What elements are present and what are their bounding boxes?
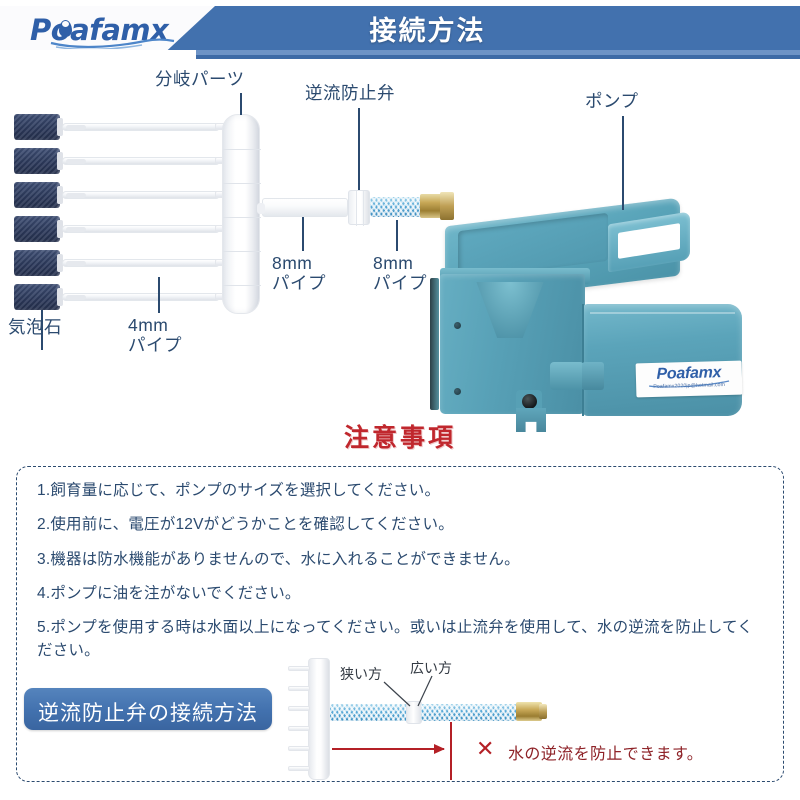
blue-braided-hose [370, 197, 422, 217]
air-stone [14, 114, 60, 140]
pipe-ferrule [66, 227, 86, 232]
splitter-manifold [222, 114, 260, 314]
pipe-4mm [62, 157, 220, 165]
air-stone [14, 182, 60, 208]
notice-item: 2.使用前に、電圧が12Vがどうかことを確認してください。 [37, 513, 763, 536]
pipe-ferrule [66, 125, 86, 130]
valve-connection-badge: 逆流防止弁の接続方法 [24, 688, 272, 730]
leader-pipe-4mm [158, 277, 160, 313]
air-stone [14, 216, 60, 242]
pipe-4mm [62, 225, 220, 233]
leader-pipe-8mm-b [396, 220, 398, 251]
pipe-ferrule [66, 261, 86, 266]
pump-side-plate [430, 278, 439, 410]
label-air-stone: 気泡石 [8, 318, 62, 338]
notice-title: 注意事項 [0, 418, 800, 454]
pump-screw [454, 322, 461, 329]
leader-pump [622, 116, 624, 210]
pump-outlet-hole [522, 394, 537, 409]
leader-splitter [240, 93, 242, 115]
flow-direction-arrow [332, 748, 444, 750]
pipe-4mm [62, 293, 220, 301]
label-pipe-8mm-b-line2: パイプ [373, 274, 427, 294]
pipe-4mm [62, 123, 220, 131]
notice-item: 4.ポンプに油を注がないでください。 [37, 582, 763, 605]
label-splitter: 分岐パーツ [155, 70, 245, 90]
leader-pipe-8mm-a [302, 217, 304, 251]
pipe-ferrule [66, 159, 86, 164]
header-underline-dark [196, 55, 800, 59]
blocked-flow-line [450, 722, 452, 780]
pump-brand-label: Poafamx Poafamx2020jp@hotmail.com [636, 361, 743, 398]
notice-list: 1.飼育量に応じて、ポンプのサイズを選択してください。 2.使用前に、電圧が12… [37, 479, 763, 674]
pump-motor-highlight [590, 312, 735, 314]
notice-item: 1.飼育量に応じて、ポンプのサイズを選択してください。 [37, 479, 763, 502]
x-mark-icon: ✕ [476, 736, 494, 762]
notice-item: 3.機器は防水機能がありませんので、水に入れることができません。 [37, 548, 763, 571]
pipe-4mm [62, 259, 220, 267]
pump-mount-block [550, 362, 584, 390]
connection-diagram: Poafamx Poafamx2020jp@hotmail.com 分岐パーツ … [0, 62, 800, 412]
label-pipe-8mm-a-line2: パイプ [272, 274, 326, 294]
pump-screw [454, 388, 461, 395]
bottom-leader-lines [280, 650, 790, 790]
air-stone [14, 284, 60, 310]
pipe-ferrule [66, 295, 86, 300]
label-check-valve: 逆流防止弁 [305, 84, 395, 104]
pump-motor-housing [582, 304, 742, 416]
check-valve [348, 190, 370, 225]
leader-air-stone [41, 310, 43, 350]
pipe-4mm [62, 191, 220, 199]
pump-motor-seam [582, 304, 584, 416]
label-pipe-4mm-line1: 4mm [128, 316, 168, 336]
valve-connection-badge-label: 逆流防止弁の接続方法 [24, 697, 272, 727]
valve-result-text: 水の逆流を防止できます。 [508, 740, 703, 764]
page-header: Poafamx 接続方法 [0, 0, 800, 62]
label-pipe-4mm-line2: パイプ [128, 336, 182, 356]
air-stone [14, 148, 60, 174]
label-pipe-8mm-a-line1: 8mm [272, 254, 312, 274]
pipe-ferrule [66, 193, 86, 198]
label-pipe-8mm-b-line1: 8mm [373, 254, 413, 274]
air-stone [14, 250, 60, 276]
page-title: 接続方法 [0, 9, 800, 48]
label-pump: ポンプ [585, 92, 638, 112]
pump-coupler [582, 362, 604, 390]
valve-connection-diagram: 狭い方 広い方 ✕ 水の逆流を防止できます。 [280, 650, 790, 790]
pipe-8mm-white [262, 198, 348, 217]
leader-check-valve [358, 108, 360, 190]
